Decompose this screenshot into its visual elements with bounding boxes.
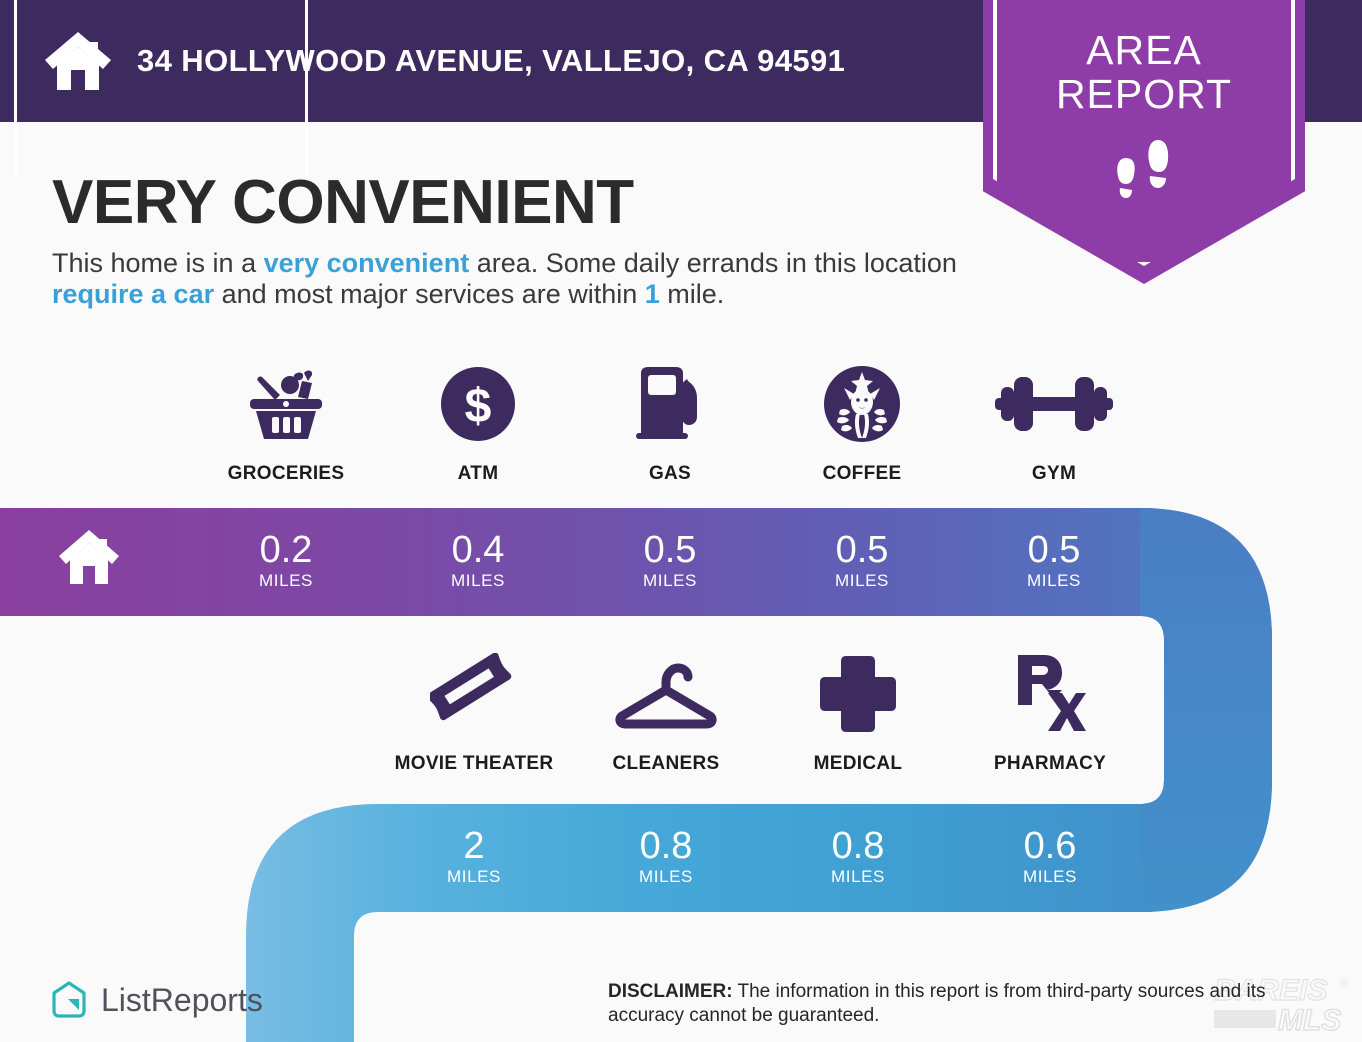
- dumbbell-icon: [995, 365, 1113, 443]
- desc-highlight-3: 1: [645, 279, 660, 309]
- amenity-atm: $ ATM: [382, 365, 574, 485]
- page-title: VERY CONVENIENT: [52, 168, 634, 238]
- distance-row-2: 2 MILES 0.8 MILES 0.8 MILES 0.6 MILES: [378, 804, 1150, 908]
- distance-unit: MILES: [835, 571, 889, 591]
- distance-unit: MILES: [643, 571, 697, 591]
- distance-cell-cleaners: 0.8 MILES: [570, 804, 762, 908]
- amenity-pharmacy: PHARMACY: [954, 655, 1146, 775]
- distance-cell-gas: 0.5 MILES: [574, 508, 766, 612]
- desc-part-1: This home is in a: [52, 248, 264, 278]
- distance-unit: MILES: [831, 867, 885, 887]
- distance-unit: MILES: [451, 571, 505, 591]
- badge-line-2: REPORT: [983, 72, 1305, 116]
- listreports-logo: ListReports: [50, 980, 263, 1020]
- amenity-icon-row-2: MOVIE THEATER CLEANERS MEDICAL: [378, 655, 1150, 775]
- amenity-label: PHARMACY: [994, 753, 1106, 775]
- distance-cell-groceries: 0.2 MILES: [190, 508, 382, 612]
- desc-part-3: and most major services are within: [214, 279, 645, 309]
- property-address: 34 HOLLYWOOD AVENUE, VALLEJO, CA 94591: [137, 43, 845, 79]
- badge-title: AREA REPORT: [983, 28, 1305, 116]
- footprints-icon: [1114, 134, 1176, 208]
- desc-highlight-2: require a car: [52, 279, 214, 309]
- amenity-label: GROCERIES: [228, 463, 345, 485]
- distance-unit: MILES: [259, 571, 313, 591]
- distance-unit: MILES: [447, 867, 501, 887]
- distance-value: 0.5: [836, 530, 889, 570]
- rx-icon: [1014, 655, 1086, 733]
- distance-value: 0.5: [1028, 530, 1081, 570]
- amenity-label: COFFEE: [823, 463, 902, 485]
- amenity-gas: GAS: [574, 365, 766, 485]
- distance-value: 0.6: [1024, 826, 1077, 866]
- desc-part-2: area. Some daily errands in this locatio…: [469, 248, 957, 278]
- dollar-circle-icon: $: [439, 365, 517, 443]
- amenity-label: MEDICAL: [814, 753, 903, 775]
- amenity-label: CLEANERS: [613, 753, 720, 775]
- distance-value: 2: [463, 826, 484, 866]
- distance-cell-movie-theater: 2 MILES: [378, 804, 570, 908]
- distance-row-1: 0.2 MILES 0.4 MILES 0.5 MILES 0.5 MILES …: [190, 508, 1150, 612]
- amenity-icon-row-1: GROCERIES $ ATM: [190, 365, 1150, 485]
- listreports-logo-text: ListReports: [101, 982, 263, 1019]
- clothes-hanger-icon: [612, 655, 720, 733]
- amenity-gym: GYM: [958, 365, 1150, 485]
- home-marker-icon: [57, 528, 121, 586]
- distance-unit: MILES: [639, 867, 693, 887]
- svg-text:®: ®: [1340, 977, 1348, 989]
- amenity-movie-theater: MOVIE THEATER: [378, 655, 570, 775]
- distance-cell-pharmacy: 0.6 MILES: [954, 804, 1146, 908]
- starbucks-siren-icon: [822, 365, 902, 443]
- medical-cross-icon: [818, 655, 898, 733]
- distance-value: 0.8: [640, 826, 693, 866]
- disclaimer: DISCLAIMER: The information in this repo…: [608, 980, 1308, 1028]
- distance-unit: MILES: [1027, 571, 1081, 591]
- amenity-label: GYM: [1032, 463, 1076, 485]
- listreports-house-icon: [50, 980, 88, 1020]
- distance-value: 0.4: [452, 530, 505, 570]
- distance-cell-coffee: 0.5 MILES: [766, 508, 958, 612]
- amenity-label: GAS: [649, 463, 691, 485]
- amenity-label: MOVIE THEATER: [395, 753, 554, 775]
- amenity-cleaners: CLEANERS: [570, 655, 762, 775]
- desc-part-4: mile.: [660, 279, 725, 309]
- amenity-coffee: COFFEE: [766, 365, 958, 485]
- distance-cell-atm: 0.4 MILES: [382, 508, 574, 612]
- distance-cell-medical: 0.8 MILES: [762, 804, 954, 908]
- distance-value: 0.2: [260, 530, 313, 570]
- home-icon: [43, 30, 113, 92]
- badge-line-1: AREA: [983, 28, 1305, 72]
- svg-text:$: $: [465, 380, 492, 433]
- area-report-infographic: 34 HOLLYWOOD AVENUE, VALLEJO, CA 94591 A…: [0, 0, 1362, 1042]
- amenity-medical: MEDICAL: [762, 655, 954, 775]
- desc-highlight-1: very convenient: [264, 248, 470, 278]
- area-report-badge: AREA REPORT: [983, 0, 1305, 284]
- disclaimer-label: DISCLAIMER:: [608, 981, 733, 1002]
- grocery-basket-icon: [244, 365, 328, 443]
- ticket-icon: [430, 655, 518, 733]
- gas-pump-icon: [631, 365, 709, 443]
- description-text: This home is in a very convenient area. …: [52, 248, 972, 310]
- amenity-label: ATM: [458, 463, 499, 485]
- distance-unit: MILES: [1023, 867, 1077, 887]
- distance-value: 0.8: [832, 826, 885, 866]
- distance-value: 0.5: [644, 530, 697, 570]
- amenity-groceries: GROCERIES: [190, 365, 382, 485]
- distance-cell-gym: 0.5 MILES: [958, 508, 1150, 612]
